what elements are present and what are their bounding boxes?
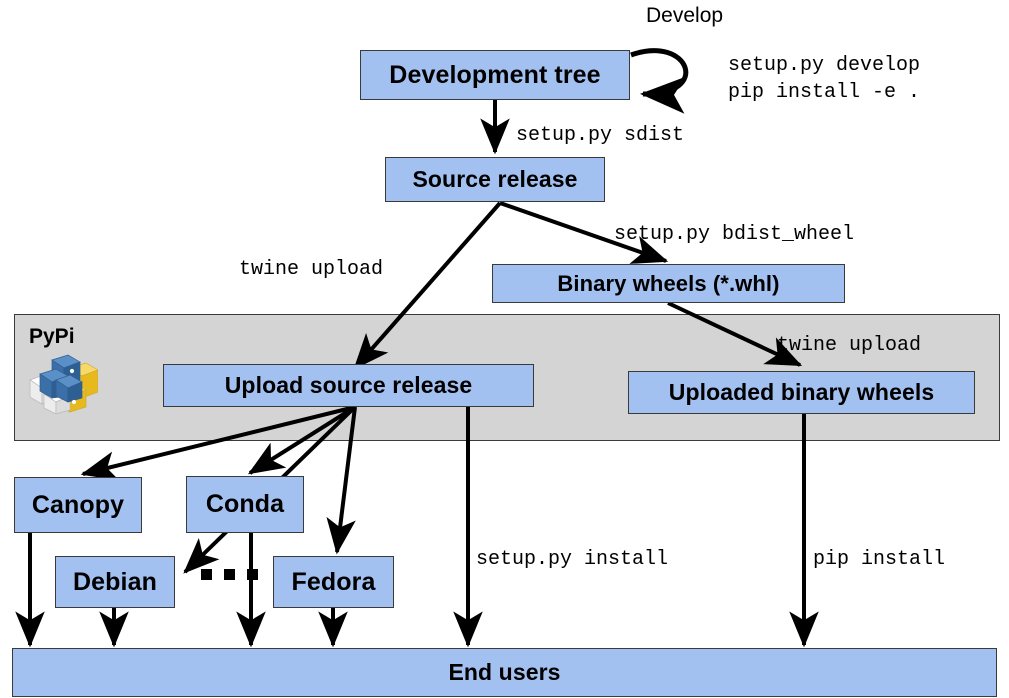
label-setup-py-install: setup.py install — [476, 546, 668, 573]
ellipsis-dot — [224, 569, 235, 580]
node-canopy[interactable]: Canopy — [14, 477, 142, 533]
pypi-cubes-icon — [26, 354, 98, 414]
ellipsis-dot — [247, 569, 258, 580]
label-twine-upload-source: twine upload — [239, 256, 383, 283]
label-setup-py-bdist-wheel: setup.py bdist_wheel — [614, 221, 854, 248]
ellipsis-more-distros — [201, 569, 258, 580]
node-fedora[interactable]: Fedora — [273, 556, 394, 608]
label-twine-upload-wheels: twine upload — [777, 332, 921, 359]
node-upload-source-release[interactable]: Upload source release — [163, 364, 534, 407]
pypi-group-label: PyPi — [29, 325, 75, 349]
node-debian[interactable]: Debian — [55, 556, 175, 608]
ellipsis-dot — [201, 569, 212, 580]
label-develop: Develop — [646, 4, 723, 28]
node-end-users[interactable]: End users — [12, 648, 997, 697]
packaging-flow-diagram: PyPi — [0, 0, 1009, 698]
label-develop-commands: setup.py develop pip install -e . — [728, 52, 920, 106]
node-conda[interactable]: Conda — [186, 476, 304, 533]
node-uploaded-binary-wheels[interactable]: Uploaded binary wheels — [628, 371, 975, 414]
label-pip-install: pip install — [813, 546, 945, 573]
node-development-tree[interactable]: Development tree — [360, 50, 630, 100]
node-binary-wheels[interactable]: Binary wheels (*.whl) — [492, 264, 845, 303]
node-source-release[interactable]: Source release — [385, 157, 605, 202]
label-setup-py-sdist: setup.py sdist — [516, 122, 684, 149]
